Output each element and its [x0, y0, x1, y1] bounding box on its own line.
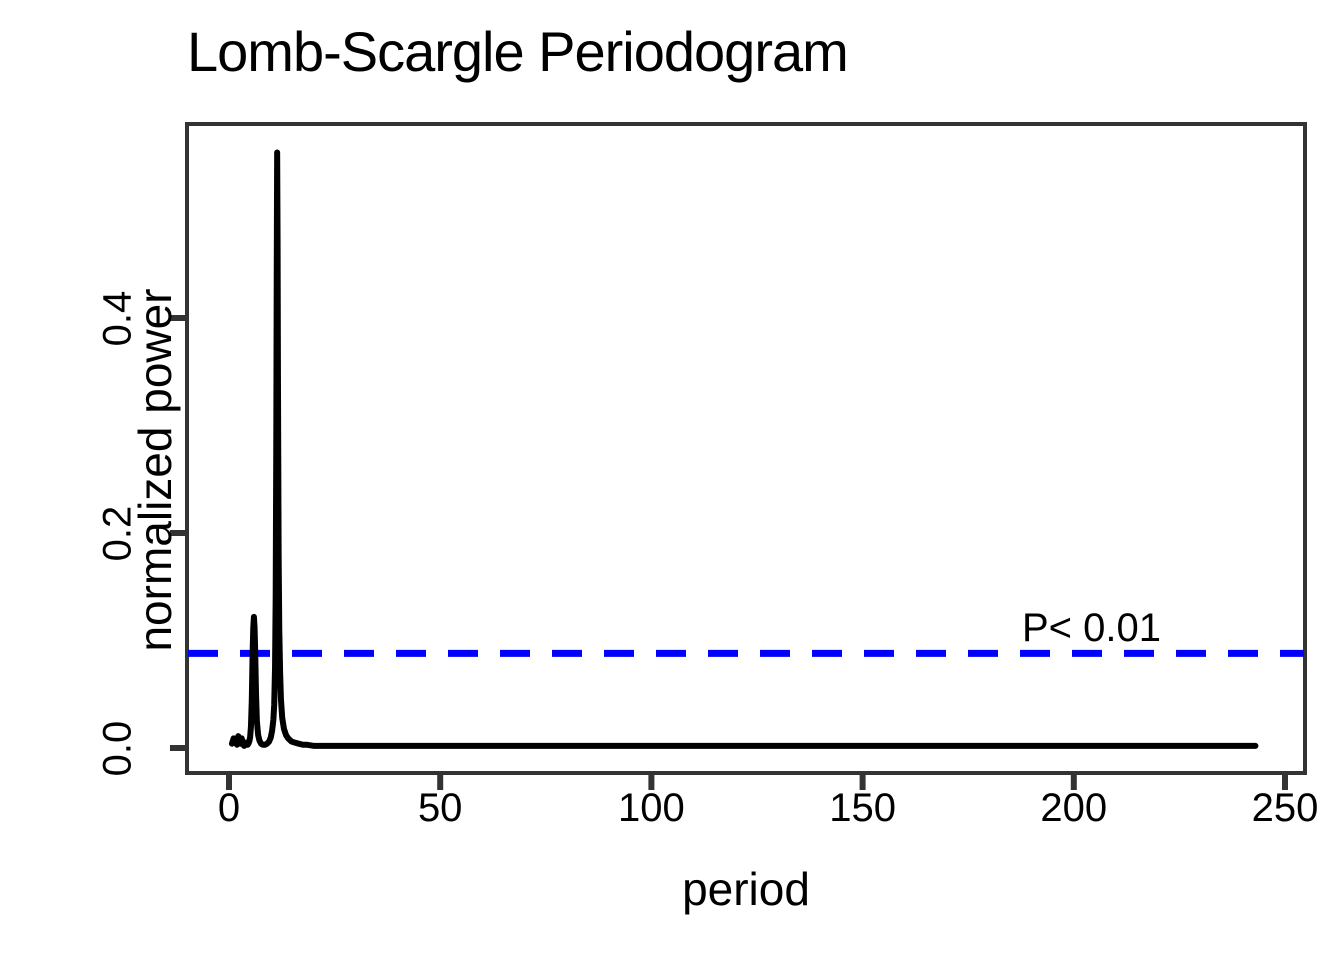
y-tick-label: 0.4	[96, 259, 141, 379]
x-tick-label: 250	[1252, 786, 1319, 831]
x-tick-label: 50	[418, 786, 463, 831]
x-tick-label: 200	[1040, 786, 1107, 831]
x-tick-label: 150	[829, 786, 896, 831]
pvalue-annotation: P< 0.01	[1022, 606, 1161, 651]
periodogram-figure: Lomb-Scargle Periodogram P< 0.01 period …	[0, 0, 1344, 960]
y-tick-label: 0.0	[96, 689, 141, 809]
y-tick-label: 0.2	[96, 474, 141, 594]
x-axis-ticks	[229, 773, 1285, 790]
x-tick-label: 0	[218, 786, 240, 831]
plot-frame	[187, 124, 1305, 773]
x-axis-label: period	[187, 862, 1305, 916]
x-tick-label: 100	[618, 786, 685, 831]
